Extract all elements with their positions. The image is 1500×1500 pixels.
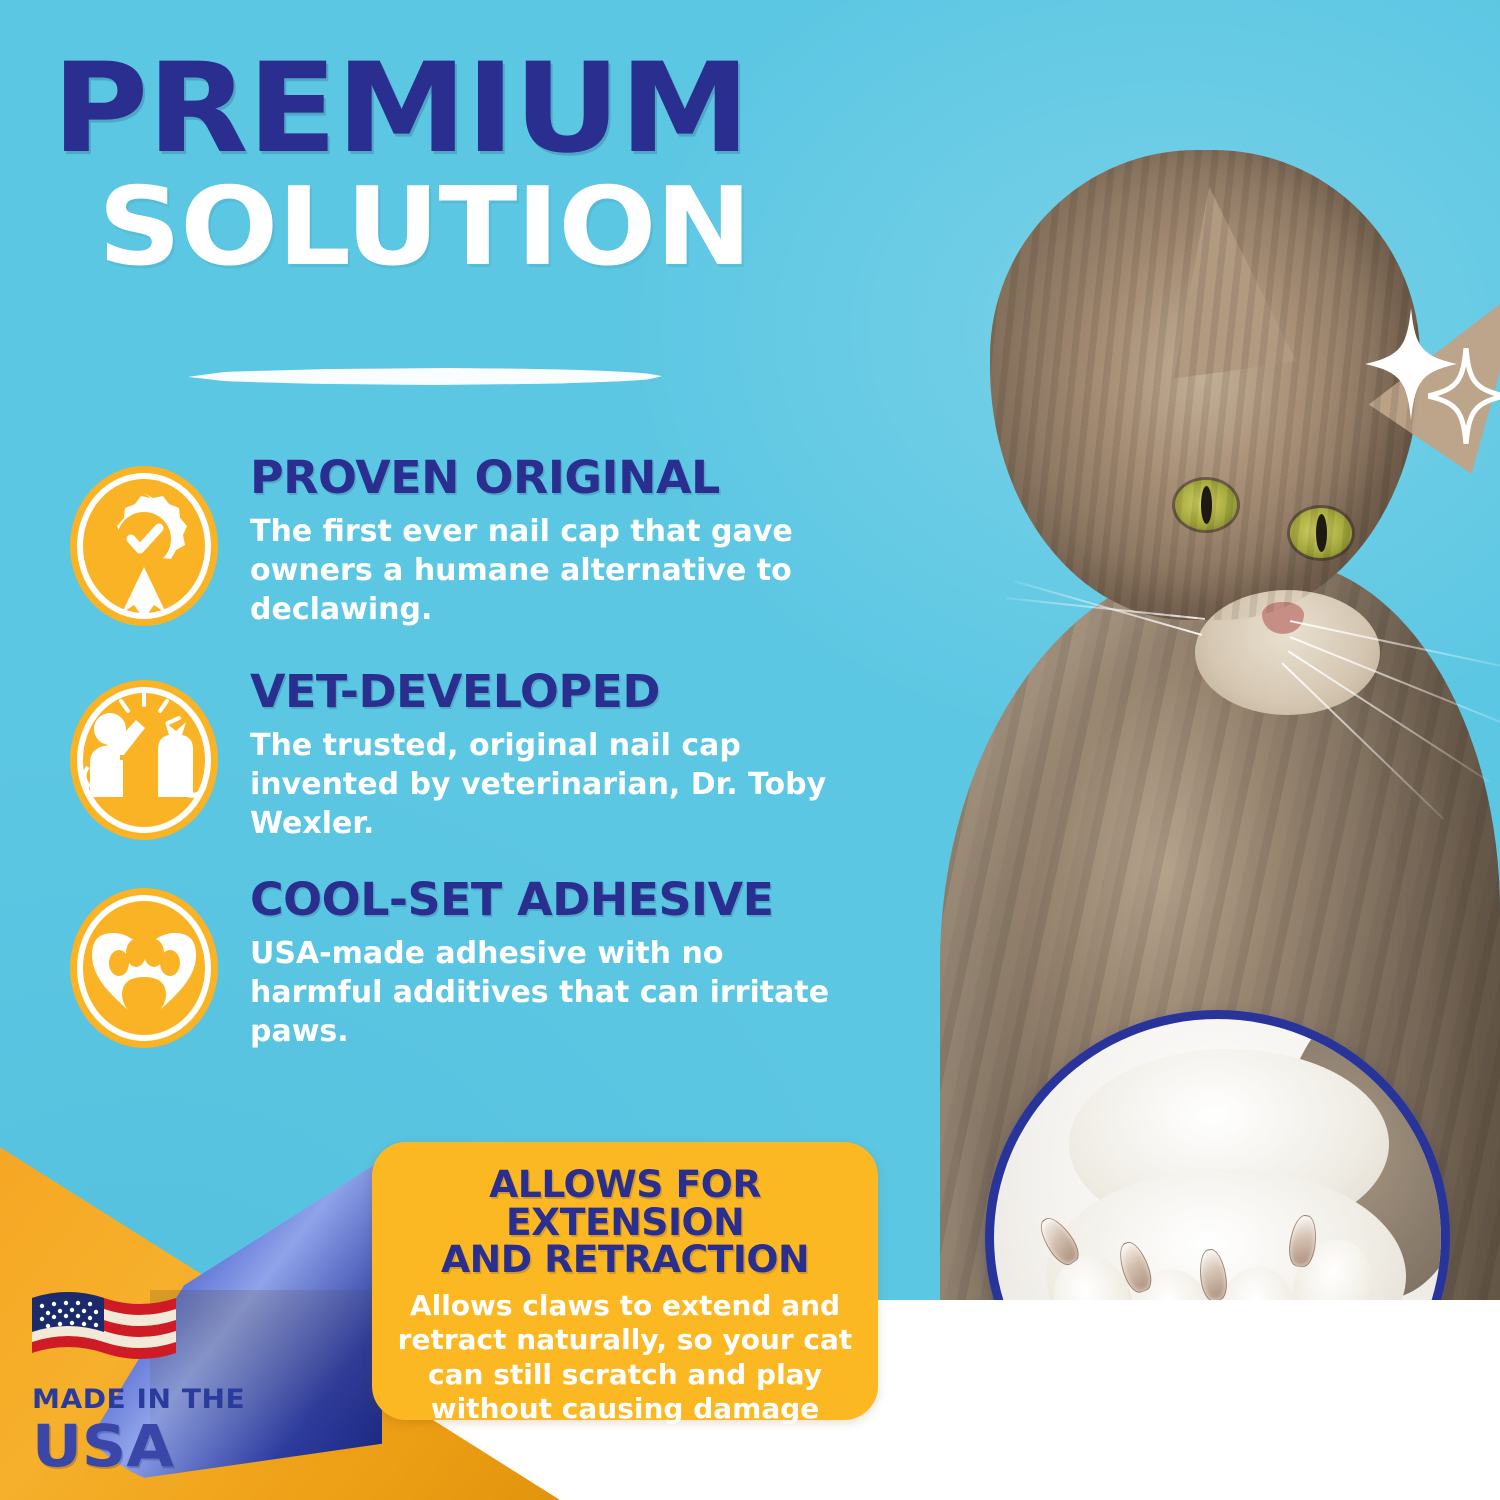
headline-solution: SOLUTION: [98, 178, 948, 277]
cat-ear-left: [1148, 178, 1297, 378]
cat-whisker: [1287, 650, 1489, 782]
feature-body: USA-made adhesive with no harmful additi…: [250, 934, 860, 1051]
feature-body: The first ever nail cap that gave owners…: [250, 512, 860, 629]
cat-whisker: [1006, 597, 1205, 620]
feature-title: COOL-SET ADHESIVE: [250, 877, 893, 922]
page-title: PREMIUM SOLUTION: [52, 52, 892, 277]
callout-title: ALLOWS FOR EXTENSION AND RETRACTION: [385, 1166, 864, 1279]
feature-item-proven-original: PROVEN ORIGINAL The first ever nail cap …: [0, 455, 880, 655]
award-ribbon-icon: [66, 463, 222, 629]
cat-head: [990, 150, 1420, 620]
callout-title-line1: ALLOWS FOR EXTENSION: [489, 1163, 761, 1244]
usa-flag-icon: [30, 1282, 178, 1374]
cat-eye-right: [1290, 508, 1352, 558]
feature-list: PROVEN ORIGINAL The first ever nail cap …: [0, 455, 880, 1055]
feature-title: PROVEN ORIGINAL: [250, 455, 893, 500]
extension-retraction-callout: ALLOWS FOR EXTENSION AND RETRACTION Allo…: [372, 1142, 878, 1420]
cat-nose: [1262, 602, 1304, 634]
sparkle-star-outline-icon: [1428, 348, 1500, 444]
lens-divider: [188, 368, 662, 385]
callout-title-line2: AND RETRACTION: [441, 1238, 809, 1281]
feature-body: The trusted, original nail cap invented …: [250, 726, 860, 843]
product-infographic: PREMIUM SOLUTION PROVEN ORIGINAL The fir…: [0, 0, 1500, 1500]
feature-item-vet-developed: VET-DEVELOPED The trusted, original nail…: [0, 669, 880, 869]
cat-whisker: [1014, 580, 1202, 636]
cat-whisker: [1290, 636, 1500, 732]
made-in-usa-badge: MADE IN THE USA: [30, 1282, 245, 1475]
heart-paw-icon: [66, 885, 222, 1051]
feature-title: VET-DEVELOPED: [250, 669, 893, 714]
callout-body: Allows claws to extend and retract natur…: [390, 1289, 860, 1426]
cat-muzzle: [1195, 590, 1380, 715]
cat-whisker: [1290, 620, 1500, 670]
cat-whisker: [1281, 662, 1444, 820]
vet-high-five-cat-icon: [66, 677, 222, 843]
usa-label: USA: [32, 1417, 258, 1475]
feature-item-cool-set-adhesive: COOL-SET ADHESIVE USA-made adhesive with…: [0, 877, 880, 1077]
made-in-the-label: MADE IN THE: [32, 1384, 254, 1415]
cat-chest-ruff: [975, 600, 1305, 1060]
headline-premium: PREMIUM: [52, 52, 942, 166]
cat-eye-left: [1175, 480, 1237, 530]
